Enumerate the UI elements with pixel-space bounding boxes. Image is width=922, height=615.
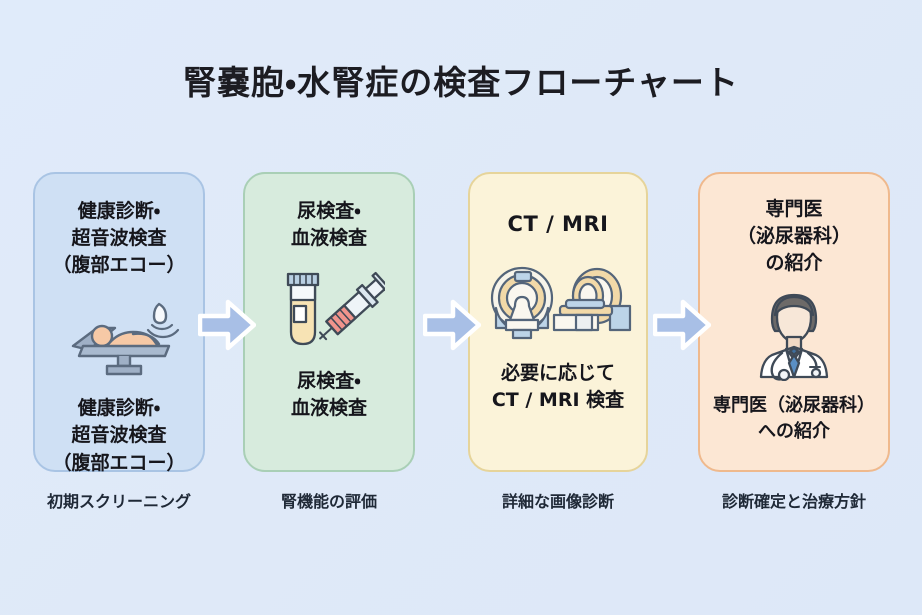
page-title: 腎嚢胞・水腎症の検査フローチャート <box>0 56 922 104</box>
arrow-right-icon <box>653 297 711 353</box>
flow-step-card-4[interactable]: 専門医 （泌尿器科） の紹介 <box>698 172 890 472</box>
step-3-description: 必要に応じて CT / MRI 検査 <box>486 360 630 415</box>
step-captions-row: 初期スクリーニング 腎機能の評価 詳細な画像診断 診断確定と治療方針 <box>0 488 922 518</box>
step-4-caption: 診断確定と治療方針 <box>698 488 890 512</box>
doctor-specialist-icon <box>742 289 846 381</box>
step-1-caption: 初期スクリーニング <box>33 488 205 512</box>
arrow-right-icon <box>198 297 256 353</box>
ultrasound-exam-icon <box>55 291 183 383</box>
step-4-description: 専門医（泌尿器科） への紹介 <box>707 393 881 445</box>
flow-step-card-1[interactable]: 健康診断・ 超音波検査 （腹部エコー） <box>33 172 205 472</box>
test-tube-syringe-icon <box>273 264 385 356</box>
flow-step-card-3[interactable]: CT / MRI <box>468 172 648 472</box>
step-2-caption: 腎機能の評価 <box>243 488 415 512</box>
step-4-heading: 専門医 （泌尿器科） の紹介 <box>729 196 859 277</box>
step-2-description: 尿検査・ 血液検査 <box>285 368 373 423</box>
step-3-caption: 詳細な画像診断 <box>468 488 648 512</box>
flowchart-canvas: 腎嚢胞・水腎症の検査フローチャート 健康診断・ 超音波検査 （腹部エコー） <box>0 0 922 615</box>
ct-mri-scanner-icon <box>482 256 634 348</box>
arrow-right-icon <box>423 297 481 353</box>
step-1-heading: 健康診断・ 超音波検査 （腹部エコー） <box>44 198 193 279</box>
step-1-description: 健康診断・ 超音波検査 （腹部エコー） <box>46 395 191 478</box>
step-3-heading: CT / MRI <box>500 210 617 240</box>
flow-step-card-2[interactable]: 尿検査・ 血液検査 <box>243 172 415 472</box>
step-2-heading: 尿検査・ 血液検査 <box>283 198 375 252</box>
